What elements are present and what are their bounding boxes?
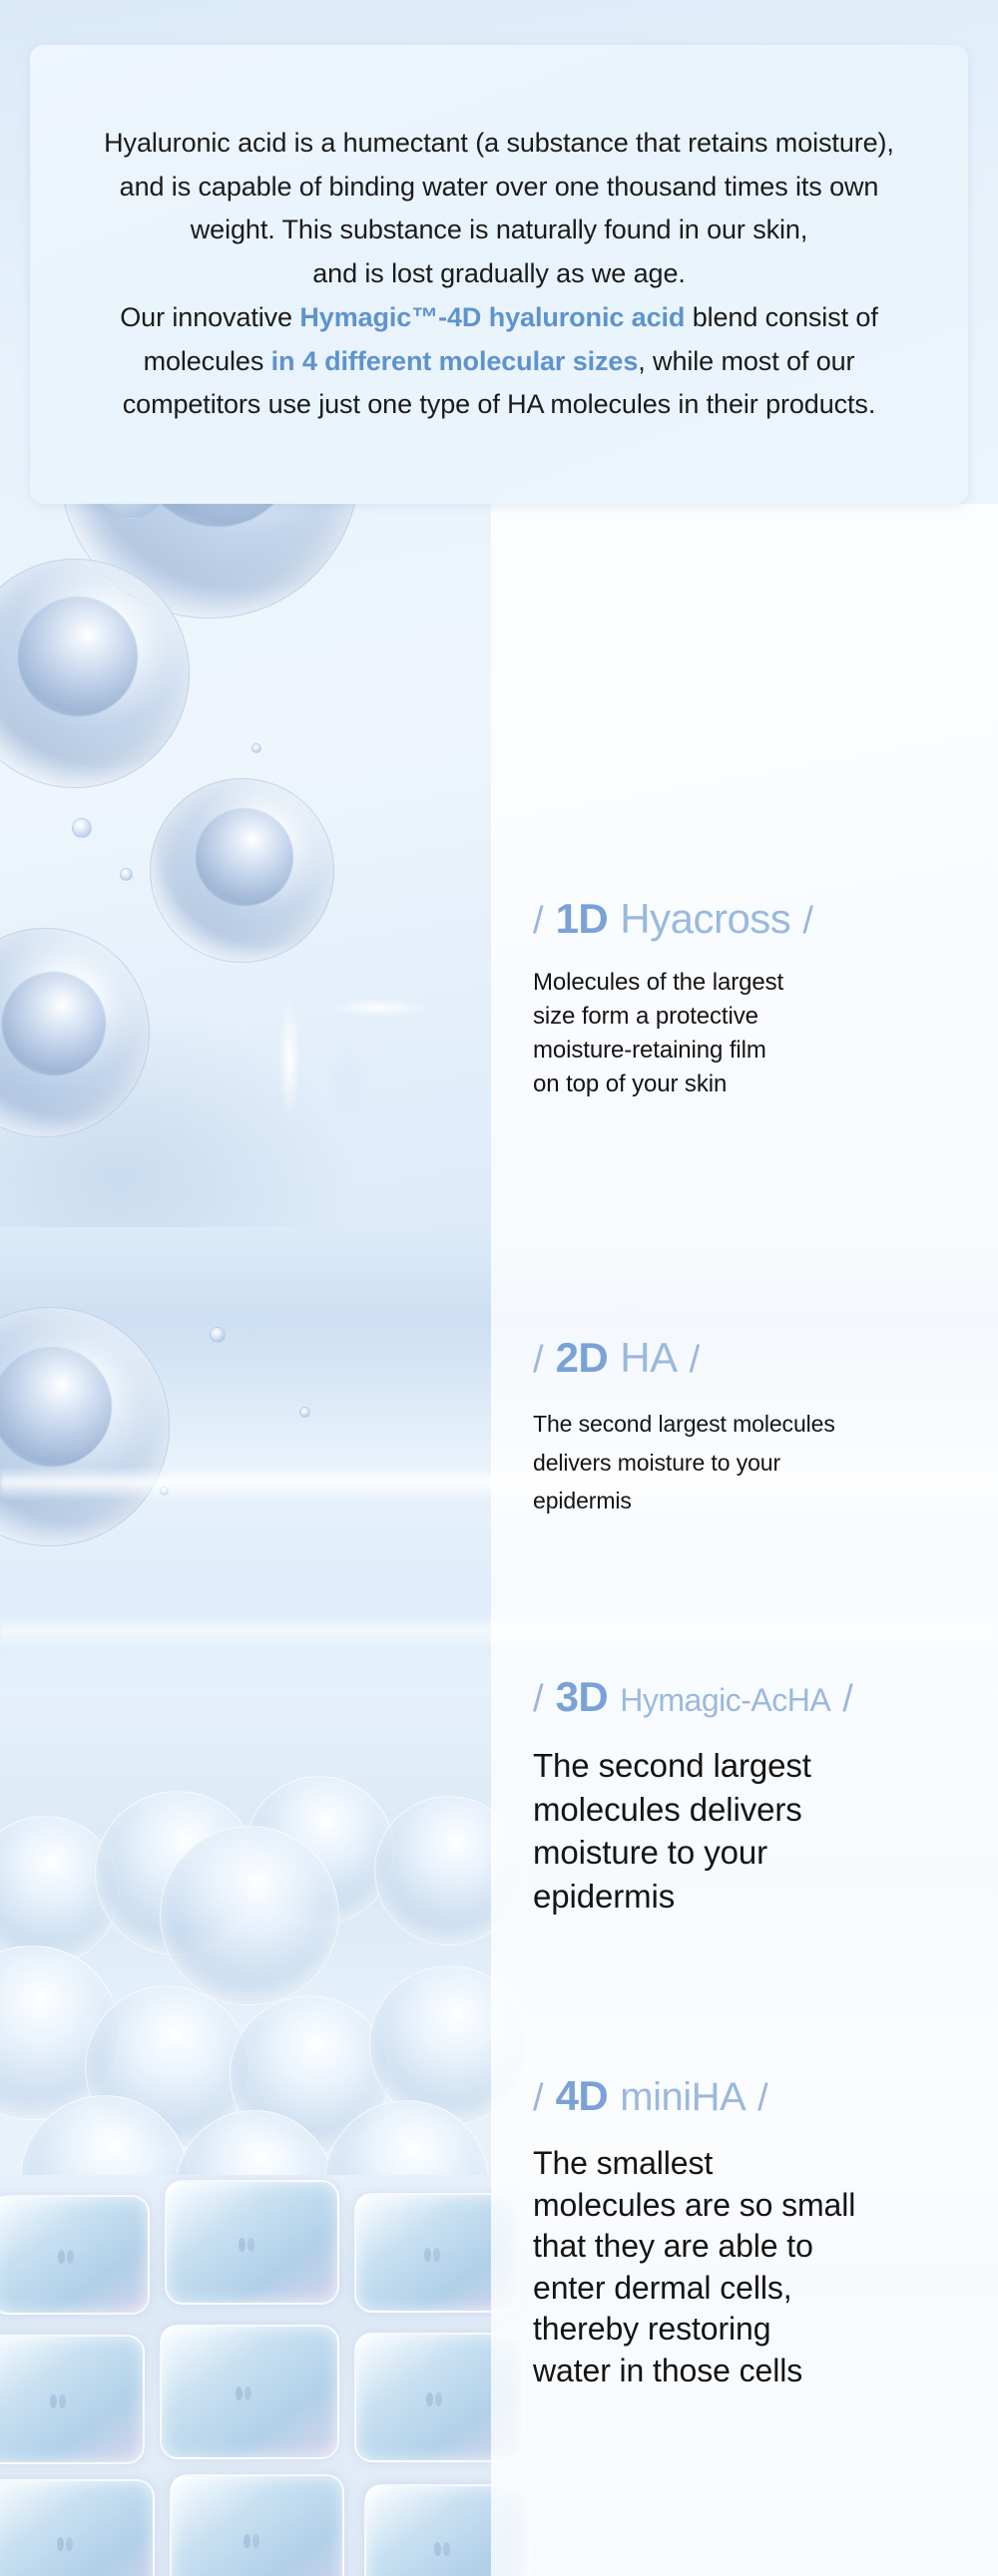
water-sphere-small bbox=[150, 778, 334, 963]
dermal-cell bbox=[160, 2325, 339, 2459]
intro-line-6-prefix: molecules bbox=[144, 346, 271, 376]
highlight-molecular-sizes: in 4 different molecular sizes bbox=[271, 346, 639, 376]
section-4d: /4DminiHA/ The smallest molecules are so… bbox=[491, 2075, 998, 2392]
intro-line-5-suffix: blend consist of bbox=[685, 302, 877, 332]
body-line: delivers moisture to your bbox=[533, 1444, 984, 1483]
intro-line-3: weight. This substance is naturally foun… bbox=[191, 209, 807, 252]
section-3d-heading: /3DHymagic-AcHA/ bbox=[533, 1676, 984, 1718]
section-3d-body: The second largest molecules delivers mo… bbox=[533, 1744, 984, 1918]
sphere-core bbox=[196, 808, 293, 906]
slash-open: / bbox=[533, 2077, 544, 2119]
intro-line-4: and is lost gradually as we age. bbox=[312, 252, 686, 296]
slash-close: / bbox=[690, 1339, 701, 1381]
body-line: water in those cells bbox=[533, 2351, 984, 2392]
intro-text-card: Hyaluronic acid is a humectant (a substa… bbox=[30, 45, 968, 504]
dermal-cell bbox=[0, 2479, 155, 2576]
floating-bubble bbox=[72, 818, 92, 838]
intro-line-1: Hyaluronic acid is a humectant (a substa… bbox=[104, 122, 894, 166]
ingredient-name: Hyacross bbox=[620, 895, 790, 942]
body-line: on top of your skin bbox=[533, 1068, 984, 1101]
slash-open: / bbox=[533, 900, 544, 942]
floating-bubble bbox=[210, 1327, 226, 1343]
floating-bubble bbox=[120, 868, 133, 881]
body-line: epidermis bbox=[533, 1875, 984, 1919]
section-4d-body: The smallest molecules are so small that… bbox=[533, 2143, 984, 2392]
intro-line-5: Our innovative Hymagic™-4D hyaluronic ac… bbox=[120, 296, 877, 340]
ingredient-name: miniHA bbox=[620, 2075, 746, 2119]
body-line: The smallest bbox=[533, 2143, 984, 2185]
body-line: enter dermal cells, bbox=[533, 2268, 984, 2310]
gel-bead-front bbox=[160, 1826, 339, 2005]
intro-line-6: molecules in 4 different molecular sizes… bbox=[144, 340, 855, 384]
sphere-core bbox=[18, 597, 138, 716]
section-4d-heading: /4DminiHA/ bbox=[533, 2075, 984, 2117]
dermal-cell bbox=[165, 2180, 339, 2305]
ingredient-name: Hymagic-AcHA bbox=[620, 1682, 830, 1718]
brand-highlight-hymagic: Hymagic™-4D hyaluronic acid bbox=[299, 302, 685, 332]
body-line: moisture-retaining film bbox=[533, 1034, 984, 1068]
body-line: molecules delivers bbox=[533, 1788, 984, 1832]
body-line: moisture to your bbox=[533, 1831, 984, 1875]
body-line: The second largest bbox=[533, 1744, 984, 1788]
dimension-label: 2D bbox=[556, 1334, 609, 1381]
sphere-core bbox=[0, 1347, 112, 1467]
section-1d-body: Molecules of the largest size form a pro… bbox=[533, 966, 984, 1101]
dimension-label: 1D bbox=[556, 895, 609, 942]
ingredient-name: HA bbox=[620, 1334, 677, 1381]
dermal-cell bbox=[0, 2335, 145, 2464]
dermal-cell bbox=[170, 2474, 344, 2576]
slash-open: / bbox=[533, 1339, 544, 1381]
water-sphere-edge bbox=[0, 928, 150, 1137]
body-line: molecules are so small bbox=[533, 2185, 984, 2227]
section-2d: /2DHA/ The second largest molecules deli… bbox=[491, 1337, 998, 1520]
section-2d-body: The second largest molecules delivers mo… bbox=[533, 1405, 984, 1520]
section-3d: /3DHymagic-AcHA/ The second largest mole… bbox=[491, 1676, 998, 1918]
water-sphere-submerged bbox=[0, 1307, 170, 1546]
body-line: that they are able to bbox=[533, 2226, 984, 2268]
sphere-core bbox=[2, 972, 106, 1075]
body-line: thereby restoring bbox=[533, 2309, 984, 2351]
dermal-cell bbox=[0, 2195, 150, 2315]
slash-close: / bbox=[802, 900, 813, 942]
dimension-label: 3D bbox=[556, 1673, 609, 1720]
slash-close: / bbox=[757, 2077, 768, 2119]
dimension-label: 4D bbox=[556, 2072, 609, 2119]
intro-line-5-prefix: Our innovative bbox=[120, 302, 299, 332]
intro-line-7: competitors use just one type of HA mole… bbox=[123, 383, 875, 427]
floating-bubble bbox=[299, 1407, 310, 1418]
floating-bubble bbox=[251, 743, 261, 753]
body-line: size form a protective bbox=[533, 1000, 984, 1034]
body-line: epidermis bbox=[533, 1482, 984, 1520]
body-line: The second largest molecules bbox=[533, 1405, 984, 1444]
body-line: Molecules of the largest bbox=[533, 966, 984, 1000]
hyaluronic-acid-infographic: Hyaluronic acid is a humectant (a substa… bbox=[0, 0, 998, 2576]
section-2d-heading: /2DHA/ bbox=[533, 1337, 984, 1379]
section-1d: /1DHyacross/ Molecules of the largest si… bbox=[491, 898, 998, 1101]
intro-line-6-suffix: , while most of our bbox=[638, 346, 854, 376]
slash-open: / bbox=[533, 1678, 544, 1720]
section-1d-heading: /1DHyacross/ bbox=[533, 898, 984, 940]
slash-close: / bbox=[842, 1678, 853, 1720]
intro-line-2: and is capable of binding water over one… bbox=[120, 166, 879, 210]
